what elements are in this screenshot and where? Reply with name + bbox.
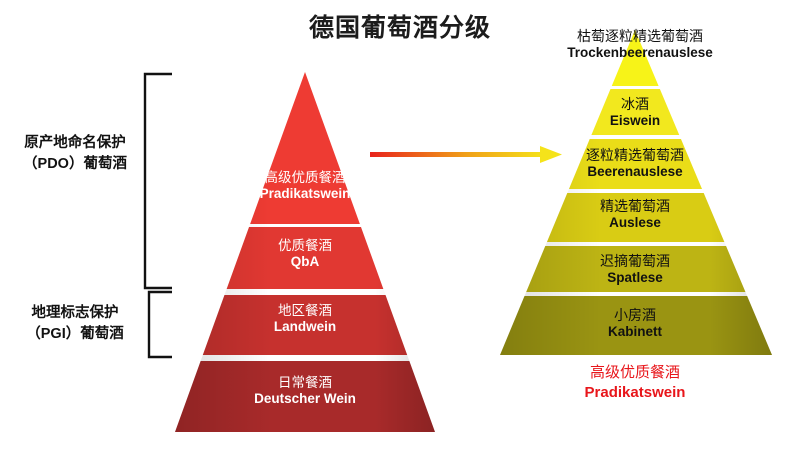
bracket-pgi	[149, 292, 172, 357]
right-footer-de: Pradikatswein	[505, 383, 765, 403]
bracket-pdo	[145, 74, 172, 288]
left-pyramid	[165, 60, 445, 440]
pradikatswein-expansion-arrow	[370, 146, 562, 163]
right-pyramid	[490, 26, 782, 360]
right-footer-cn: 高级优质餐酒	[505, 363, 765, 383]
right-pyramid-footer-label: 高级优质餐酒 Pradikatswein	[505, 363, 765, 402]
